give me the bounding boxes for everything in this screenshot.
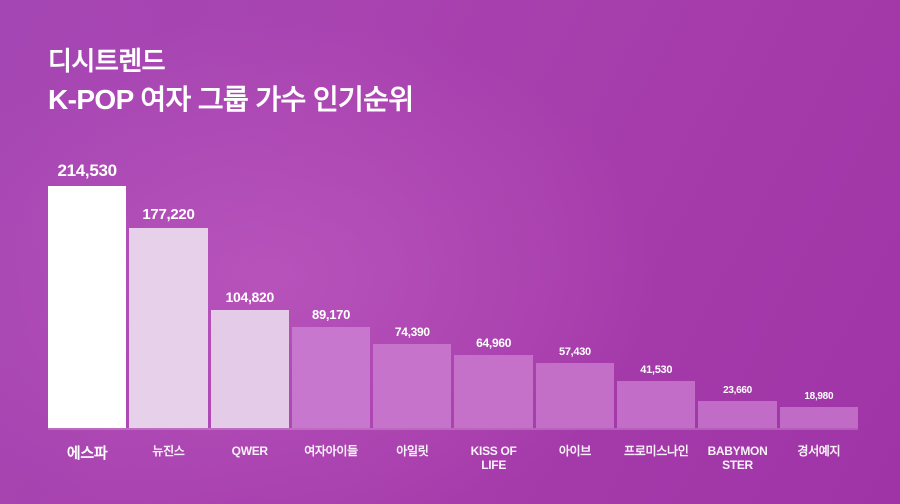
bar-rect[interactable] [536, 363, 614, 428]
bar-rect[interactable] [373, 344, 451, 428]
bar-value-label: 89,170 [312, 307, 350, 322]
bar-rect[interactable] [211, 310, 289, 428]
bar-value-label: 64,960 [476, 336, 511, 350]
bar-rect[interactable] [698, 401, 776, 428]
bar-slot[interactable]: 18,980 [780, 160, 858, 428]
chart-baseline [48, 428, 858, 430]
bar-value-label: 177,220 [142, 206, 194, 223]
category-label: 여자아이들 [292, 436, 370, 473]
category-label: 경서예지 [780, 436, 858, 473]
bar-slot[interactable]: 23,660 [698, 160, 776, 428]
category-label: BABYMON STER [698, 436, 776, 473]
category-label: QWER [211, 436, 289, 473]
bar-rect[interactable] [617, 381, 695, 428]
page-title: K-POP 여자 그룹 가수 인기순위 [48, 83, 748, 117]
bar-rect[interactable] [780, 407, 858, 428]
category-label: KISS OF LIFE [454, 436, 532, 473]
bar-value-label: 18,980 [804, 391, 833, 402]
bar-slot[interactable]: 64,960 [454, 160, 532, 428]
bar-value-label: 214,530 [57, 161, 116, 181]
bar-slot[interactable]: 214,530 [48, 160, 126, 428]
bars-row: 214,530177,220104,82089,17074,39064,9605… [48, 160, 858, 428]
bar-value-label: 23,660 [723, 385, 752, 396]
bar-value-label: 74,390 [395, 325, 430, 339]
bar-slot[interactable]: 104,820 [211, 160, 289, 428]
category-labels-row: 에스파뉴진스QWER여자아이들아일릿KISS OF LIFE아이브프로미스나인B… [48, 436, 858, 473]
bar-rect[interactable] [48, 186, 126, 428]
bar-slot[interactable]: 89,170 [292, 160, 370, 428]
category-label: 에스파 [48, 436, 126, 473]
kpop-popularity-chart-card: 디시트렌드 K-POP 여자 그룹 가수 인기순위 214,530177,220… [0, 0, 900, 504]
bar-value-label: 104,820 [225, 289, 274, 305]
bar-rect[interactable] [292, 327, 370, 428]
bar-rect[interactable] [129, 228, 207, 428]
bar-rect[interactable] [454, 355, 532, 428]
bar-value-label: 41,530 [640, 364, 672, 376]
bar-slot[interactable]: 57,430 [536, 160, 614, 428]
chart-header: 디시트렌드 K-POP 여자 그룹 가수 인기순위 [48, 46, 748, 116]
category-label: 프로미스나인 [617, 436, 695, 473]
category-label: 아이브 [536, 436, 614, 473]
chart-kicker: 디시트렌드 [48, 46, 748, 77]
bar-slot[interactable]: 177,220 [129, 160, 207, 428]
bar-slot[interactable]: 41,530 [617, 160, 695, 428]
bar-slot[interactable]: 74,390 [373, 160, 451, 428]
category-label: 아일릿 [373, 436, 451, 473]
bar-value-label: 57,430 [559, 346, 591, 358]
bar-chart-plot-area: 214,530177,220104,82089,17074,39064,9605… [48, 160, 858, 428]
category-label: 뉴진스 [129, 436, 207, 473]
